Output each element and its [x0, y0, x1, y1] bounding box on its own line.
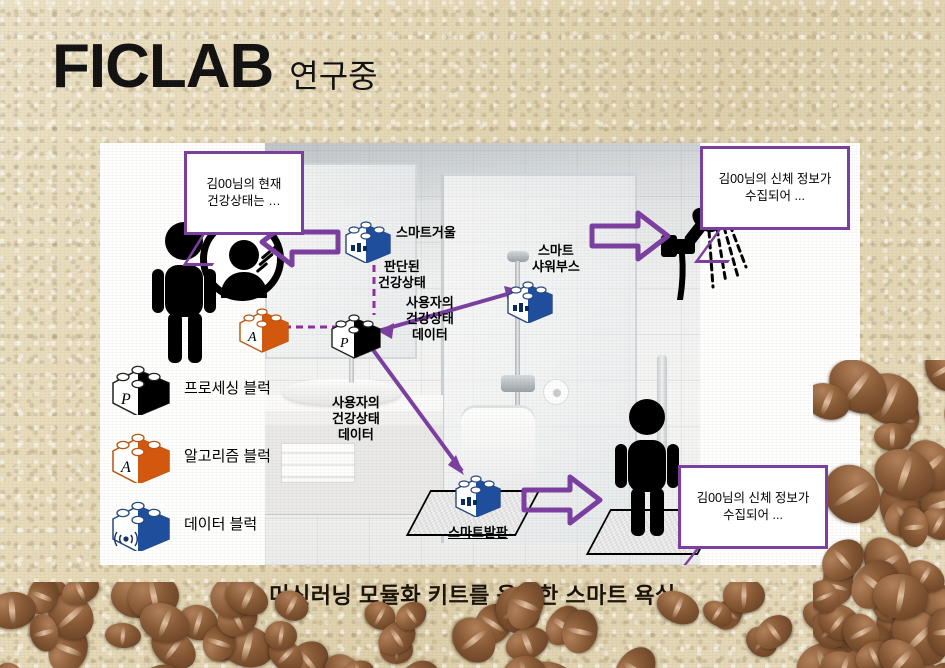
figure-panel: A P: [100, 143, 860, 565]
slide-header: FICLAB 연구중: [52, 36, 378, 98]
coffee-bean: [651, 584, 703, 630]
coffee-beans-bottom-decoration: [0, 582, 945, 668]
brand-subtitle: 연구중: [289, 60, 377, 92]
coffee-bean: [606, 639, 665, 668]
arrow-to-shower-right: [588, 209, 672, 263]
brand-title: FICLAB: [52, 36, 273, 98]
legend-label-algorithm: 알고리즘 블럭: [184, 445, 271, 466]
svg-text:P: P: [339, 336, 349, 351]
lego-block-algorithm: A: [236, 303, 292, 353]
legend-lego-algorithm: A: [108, 427, 174, 483]
lego-block-smart-mirror: [342, 217, 394, 263]
legend-label-data: 데이터 블럭: [184, 513, 257, 534]
coffee-bean: [104, 622, 142, 650]
label-judged-health: 판단된 건강상태: [378, 259, 426, 291]
callout-shower-body-info: 김00님의 신체 정보가 수집되어 ...: [700, 146, 850, 230]
svg-text:A: A: [120, 459, 131, 476]
legend-item-processing: P 프로세싱 블럭: [108, 359, 271, 415]
coffee-bean: [670, 660, 737, 668]
coffee-bean: [874, 423, 912, 453]
lego-block-shower-booth: [504, 277, 556, 323]
svg-text:A: A: [247, 330, 257, 345]
legend-item-data: 데이터 블럭: [108, 495, 257, 551]
lego-block-floor-pad: [452, 471, 504, 517]
link-processing-to-mat: [368, 343, 462, 471]
legend-lego-data: [108, 495, 174, 551]
coffee-bean: [917, 360, 945, 399]
legend-lego-processing: P: [108, 359, 174, 415]
slide-canvas: FICLAB 연구중: [0, 0, 945, 668]
callout-mirror-health-status: 김00님의 현재 건강상태는 …: [184, 151, 304, 235]
callout-shower-text: 김00님의 신체 정보가 수집되어 ...: [719, 172, 832, 203]
callout-mat-body-info: 김00님의 신체 정보가 수집되어 ...: [678, 465, 828, 549]
label-smart-shower-booth: 스마트 샤워부스: [532, 243, 580, 275]
callout-mat-text: 김00님의 신체 정보가 수집되어 ...: [697, 491, 810, 522]
label-smart-floor-pad: 스마트발판: [448, 525, 508, 541]
label-smart-mirror: 스마트거울: [396, 225, 456, 241]
lego-block-processing: P: [328, 309, 384, 359]
callout-mirror-text: 김00님의 현재 건강상태는 …: [207, 177, 282, 208]
coffee-bean: [0, 657, 30, 668]
label-user-health-data-upper: 사용자의 건강상태 데이터: [406, 295, 454, 343]
svg-text:P: P: [120, 391, 131, 408]
legend-label-processing: 프로세싱 블럭: [184, 377, 271, 398]
legend-item-algorithm: A 알고리즘 블럭: [108, 427, 271, 483]
arrow-to-person-right: [520, 473, 604, 527]
label-user-health-data-lower: 사용자의 건강상태 데이터: [332, 395, 380, 443]
